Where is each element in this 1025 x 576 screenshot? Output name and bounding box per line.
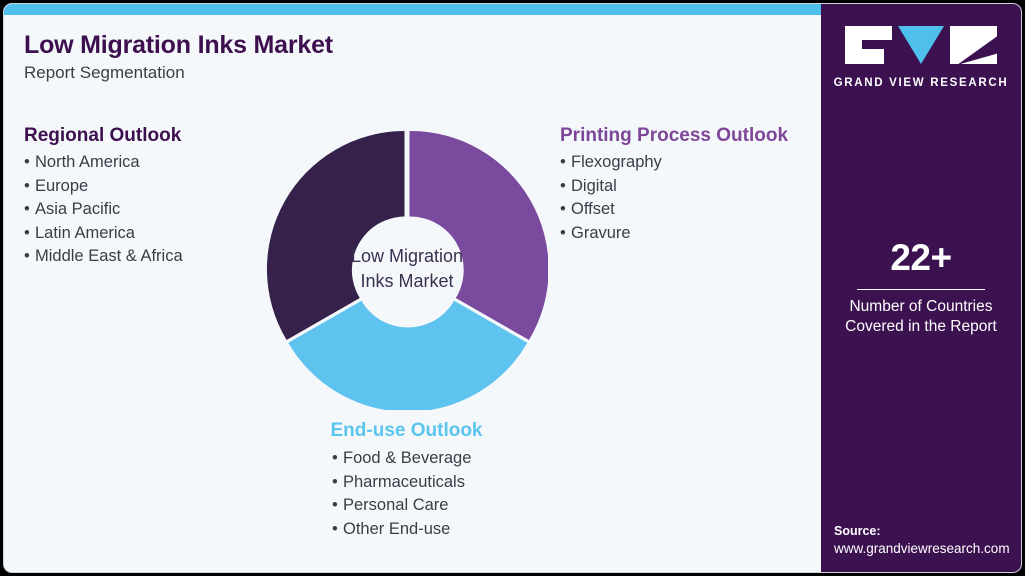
infographic-card: Low Migration Inks Market Report Segment… xyxy=(3,3,1022,573)
list-item: Offset xyxy=(560,198,788,222)
logo-r-icon xyxy=(950,26,997,64)
donut-slice-printing xyxy=(410,131,549,340)
list-item: Food & Beverage xyxy=(304,447,509,471)
stat-label-line-1: Number of Countries xyxy=(821,297,1021,317)
logo-marks xyxy=(821,26,1021,68)
printing-process-outlook-title: Printing Process Outlook xyxy=(560,125,788,147)
list-item: Middle East & Africa xyxy=(24,245,183,269)
regional-outlook-list: North America Europe Asia Pacific Latin … xyxy=(24,151,183,269)
list-item: Digital xyxy=(560,175,788,199)
source-block: Source: www.grandviewresearch.com xyxy=(834,523,1010,558)
list-item: Asia Pacific xyxy=(24,198,183,222)
regional-outlook-block: Regional Outlook North America Europe As… xyxy=(24,125,183,269)
end-use-outlook-list: Food & Beverage Pharmaceuticals Personal… xyxy=(304,447,509,541)
end-use-outlook-block: End-use Outlook Food & Beverage Pharmace… xyxy=(304,420,509,541)
source-label: Source: xyxy=(834,523,1010,540)
top-accent-bar xyxy=(4,4,823,15)
regional-outlook-title: Regional Outlook xyxy=(24,125,183,147)
list-item: Europe xyxy=(24,175,183,199)
stat-divider xyxy=(857,289,985,290)
brand-sidebar: GRAND VIEW RESEARCH 22+ Number of Countr… xyxy=(821,4,1021,573)
source-url: www.grandviewresearch.com xyxy=(834,540,1010,558)
donut-svg xyxy=(266,128,548,410)
list-item: Personal Care xyxy=(304,494,509,518)
list-item: Latin America xyxy=(24,222,183,246)
main-content-area: Low Migration Inks Market Report Segment… xyxy=(4,15,823,573)
printing-process-outlook-block: Printing Process Outlook Flexography Dig… xyxy=(560,125,788,245)
list-item: Gravure xyxy=(560,222,788,246)
segmentation-donut-chart: Low Migration Inks Market xyxy=(266,128,548,410)
donut-slice-regional xyxy=(267,131,405,340)
printing-process-outlook-list: Flexography Digital Offset Gravure xyxy=(560,151,788,245)
grand-view-research-logo: GRAND VIEW RESEARCH xyxy=(821,26,1021,89)
list-item: Other End-use xyxy=(304,518,509,542)
list-item: Pharmaceuticals xyxy=(304,471,509,495)
page-subtitle: Report Segmentation xyxy=(24,63,185,83)
page-title: Low Migration Inks Market xyxy=(24,31,333,60)
countries-stat: 22+ Number of Countries Covered in the R… xyxy=(821,237,1021,337)
end-use-outlook-title: End-use Outlook xyxy=(304,420,509,442)
stat-value: 22+ xyxy=(821,237,1021,279)
logo-g-icon xyxy=(845,26,892,64)
logo-wordmark: GRAND VIEW RESEARCH xyxy=(821,77,1021,89)
stat-label-line-2: Covered in the Report xyxy=(821,317,1021,337)
list-item: North America xyxy=(24,151,183,175)
logo-v-triangle-icon xyxy=(898,26,944,64)
list-item: Flexography xyxy=(560,151,788,175)
